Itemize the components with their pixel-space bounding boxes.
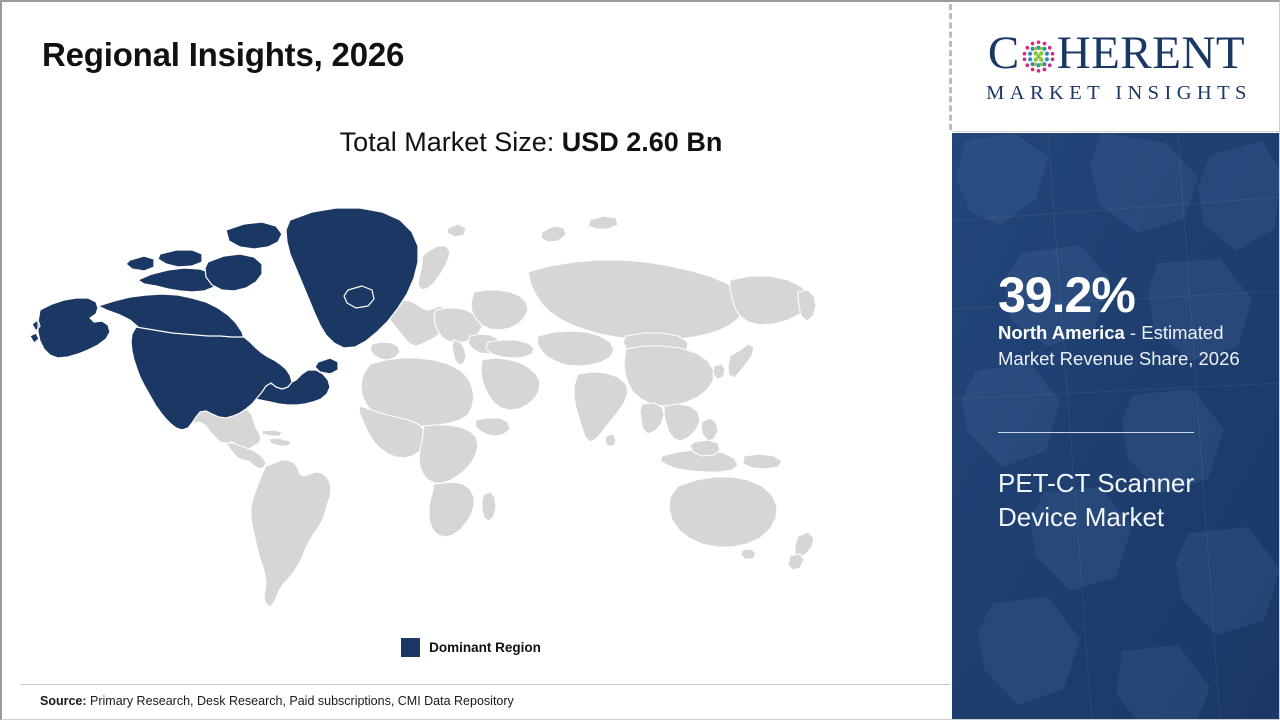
map-region-victoria-island <box>158 250 202 267</box>
brand-logo-wordmark: C <box>988 30 1245 77</box>
map-region-cuba <box>262 430 282 436</box>
total-market-size-value: USD 2.60 Bn <box>562 127 723 157</box>
source-label: Source: <box>40 694 87 708</box>
map-region-japan <box>728 344 754 378</box>
map-region-caribbean <box>268 438 292 446</box>
stat-panel: 39.2% North America - Estimated Market R… <box>952 133 1280 720</box>
left-content-pane: Regional Insights, 2026 Total Market Siz… <box>2 2 950 720</box>
brand-logo: C <box>954 4 1280 132</box>
map-region-sri-lanka <box>605 434 616 446</box>
brand-logo-tagline: MARKET INSIGHTS <box>981 82 1252 105</box>
map-region-south-america <box>251 460 331 607</box>
map-region-korea <box>713 364 725 379</box>
map-region-kamchatka <box>798 290 816 321</box>
map-region-svalbard <box>447 224 466 237</box>
map-region-arctic-islands-ru <box>588 216 618 229</box>
market-report-title: PET-CT Scanner Device Market <box>998 466 1256 535</box>
map-region-scandinavia <box>418 246 450 290</box>
map-region-new-zealand-south <box>788 554 804 570</box>
legend-label-dominant-region: Dominant Region <box>429 640 541 655</box>
page-title: Regional Insights, 2026 <box>42 36 404 74</box>
stat-region-name: North America <box>998 322 1125 343</box>
map-region-southern-africa <box>429 482 474 537</box>
map-region-new-guinea <box>743 454 782 469</box>
brand-logo-wordmark-text: HERENT <box>1057 30 1245 77</box>
stat-description: North America - Estimated Market Revenue… <box>998 320 1260 373</box>
map-region-baffin-island <box>205 254 262 291</box>
map-legend: Dominant Region <box>2 638 950 657</box>
footer-divider <box>20 684 950 685</box>
map-region-turkey <box>486 340 534 358</box>
stat-panel-content: 39.2% North America - Estimated Market R… <box>998 133 1260 720</box>
map-region-italy <box>452 340 466 365</box>
total-market-size: Total Market Size: USD 2.60 Bn <box>2 127 950 158</box>
source-line: Source: Primary Research, Desk Research,… <box>40 694 514 708</box>
map-region-indochina <box>640 403 664 434</box>
map-dominant-regions <box>30 208 418 430</box>
map-region-central-asia <box>537 331 614 366</box>
map-region-tasmania <box>741 549 756 559</box>
brand-logo-letter-c: C <box>988 30 1020 77</box>
world-map-container <box>30 184 842 624</box>
map-region-banks-island <box>126 256 154 271</box>
legend-swatch-dominant-region <box>401 638 420 657</box>
map-region-china <box>624 346 714 406</box>
dotted-globe-icon <box>1021 39 1056 74</box>
map-region-russia <box>528 260 746 340</box>
map-region-southeast-asia <box>664 404 700 441</box>
total-market-size-label: Total Market Size: <box>340 127 555 157</box>
map-region-novaya-zemlya <box>541 226 566 242</box>
map-region-philippines <box>701 418 718 441</box>
map-region-india <box>574 372 628 442</box>
map-region-australia <box>669 477 777 547</box>
map-region-ellesmere <box>226 222 282 249</box>
world-map-svg <box>30 184 842 624</box>
stat-panel-divider <box>998 432 1194 433</box>
map-region-horn-of-africa <box>475 418 510 436</box>
map-region-central-africa <box>419 425 478 483</box>
map-region-alaska <box>30 298 110 358</box>
map-region-iberia <box>370 342 400 360</box>
map-region-madagascar <box>482 492 496 521</box>
infographic-page: Regional Insights, 2026 Total Market Siz… <box>0 0 1280 720</box>
map-region-middle-east <box>481 358 540 410</box>
vertical-dashed-divider <box>949 4 952 130</box>
stat-percentage: 39.2% <box>998 270 1135 320</box>
source-text: Primary Research, Desk Research, Paid su… <box>87 694 514 708</box>
